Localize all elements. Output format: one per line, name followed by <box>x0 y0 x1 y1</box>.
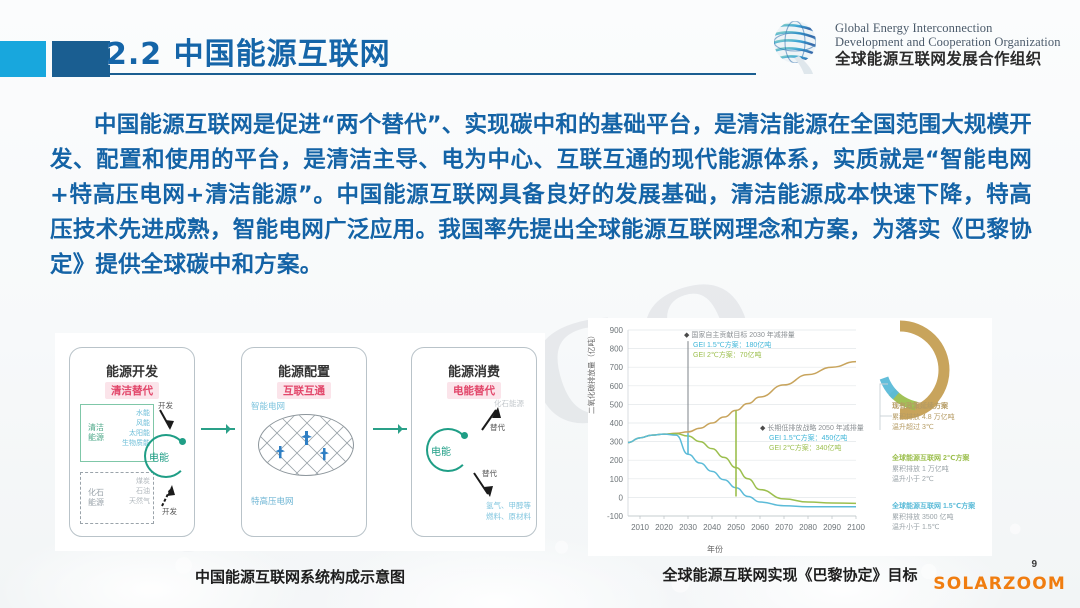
header-accent-square-light <box>0 41 46 77</box>
card-subtitle: 电能替代 <box>447 382 501 399</box>
scenario-cumulative: 累积排放 4.8 万亿吨 <box>892 413 955 424</box>
annotation-title: 国家自主贡献目标 2030 年减排量 <box>691 332 794 339</box>
fossil-energy-label: 化石能源 <box>85 488 107 508</box>
fossil-energy-box: 化石能源 煤炭石油天然气 <box>80 472 154 524</box>
svg-text:300: 300 <box>610 438 624 447</box>
card-title: 能源开发 <box>70 361 194 380</box>
consumption-target-top: 化石能源 <box>494 398 524 409</box>
right-chart-figure: 二氧化碳排放量（亿吨） -100010020030040050060070080… <box>588 318 992 556</box>
page-number: 9 <box>1031 559 1037 570</box>
solarzoom-watermark: SOLARZOOM <box>933 574 1066 594</box>
annotation-title: 长期低排放战略 2050 年减排量 <box>767 425 863 432</box>
svg-text:200: 200 <box>610 456 624 465</box>
svg-text:100: 100 <box>610 475 624 484</box>
diagram-card-energy-development: 能源开发 清洁替代 清洁能源 水能风能太阳能生物质能 化石能源 煤炭石油天然气 <box>69 347 195 537</box>
card-subtitle: 清洁替代 <box>105 382 159 399</box>
scenario-warming: 温升小于 2℃ <box>892 475 969 486</box>
globe-logo-icon <box>768 16 826 74</box>
svg-text:2010: 2010 <box>631 523 649 532</box>
scenario-warming: 温升超过 3℃ <box>892 423 955 434</box>
svg-text:600: 600 <box>610 382 624 391</box>
svg-text:2090: 2090 <box>823 523 841 532</box>
scenario-existing-policy: 现有政策延续方案 累积排放 4.8 万亿吨 温升超过 3℃ <box>892 402 955 434</box>
smart-grid-label: 智能电网 <box>251 400 285 412</box>
svg-text:900: 900 <box>610 326 624 335</box>
electricity-label: 电能 <box>149 449 169 464</box>
uhv-grid-label: 特高压电网 <box>251 495 294 507</box>
electricity-label: 电能 <box>431 443 451 458</box>
header-accent-square-dark <box>52 41 110 77</box>
slide-header: 2.2 中国能源互联网 <box>0 0 1080 92</box>
scenario-cumulative: 累积排放 1 万亿吨 <box>892 465 969 476</box>
develop-arrow-up-label: 开发 <box>158 400 173 411</box>
svg-text:500: 500 <box>610 400 624 409</box>
svg-text:2040: 2040 <box>703 523 721 532</box>
svg-text:700: 700 <box>610 363 624 372</box>
scenario-name: 现有政策延续方案 <box>892 402 955 413</box>
body-paragraph: 中国能源互联网是促进“两个替代”、实现碳中和的基础平台，是清洁能源在全国范围大规… <box>50 108 1032 283</box>
right-figure-caption: 全球能源互联网实现《巴黎协定》目标 <box>600 564 980 585</box>
scenario-gei-15c: 全球能源互联网 1.5℃方案 累积排放 3500 亿吨 温升小于 1.5℃ <box>892 502 975 534</box>
svg-text:2020: 2020 <box>655 523 673 532</box>
chart-x-axis-label: 年份 <box>588 544 842 555</box>
consumption-target-bottom-line2: 燃料、原材料 <box>486 511 531 522</box>
flow-arrow-2 <box>373 428 407 430</box>
fossil-energy-items: 煤炭石油天然气 <box>129 477 150 507</box>
annotation-line2: GEI 2℃方案：70亿吨 <box>693 352 762 359</box>
consume-arrow-up-label: 替代 <box>490 422 505 433</box>
consumption-target-bottom-line1: 氢气、甲醇等 <box>486 500 531 511</box>
card-title: 能源消费 <box>412 361 536 380</box>
svg-text:2070: 2070 <box>775 523 793 532</box>
left-diagram: 能源开发 清洁替代 清洁能源 水能风能太阳能生物质能 化石能源 煤炭石油天然气 <box>55 333 545 551</box>
grid-network-ellipse <box>258 414 354 476</box>
chart-y-axis-label: 二氧化碳排放量（亿吨） <box>586 332 597 415</box>
annotation-line1: GEI 1.5℃方案：180亿吨 <box>693 342 771 349</box>
scenario-name: 全球能源互联网 2℃方案 <box>892 454 969 465</box>
svg-text:2060: 2060 <box>751 523 769 532</box>
annotation-line2: GEI 2℃方案：340亿吨 <box>769 445 841 452</box>
card-subtitle: 互联互通 <box>277 382 331 399</box>
develop-arrow-down-label: 开发 <box>162 506 177 517</box>
scenario-name: 全球能源互联网 1.5℃方案 <box>892 502 975 513</box>
scenario-gei-2c: 全球能源互联网 2℃方案 累积排放 1 万亿吨 温升小于 2℃ <box>892 454 969 486</box>
clean-energy-box: 清洁能源 水能风能太阳能生物质能 <box>80 404 154 462</box>
svg-text:2030: 2030 <box>679 523 697 532</box>
logo-chinese-name: 全球能源互联网发展合作组织 <box>835 51 1061 68</box>
annotation-line1: GEI 1.5℃方案：450亿吨 <box>769 435 847 442</box>
electricity-node-dot <box>461 432 468 439</box>
scenario-cumulative: 累积排放 3500 亿吨 <box>892 513 975 524</box>
flow-arrow-1 <box>201 428 235 430</box>
clean-energy-label: 清洁能源 <box>85 423 107 443</box>
slide-canvas: 2.2 中国能源互联网 <box>0 0 1080 608</box>
organization-logo: Global Energy Interconnection Developmen… <box>768 12 1068 78</box>
diagram-card-energy-allocation: 能源配置 互联互通 智能电网 <box>241 347 367 537</box>
clean-energy-items: 水能风能太阳能生物质能 <box>122 409 150 450</box>
header-underline <box>88 73 756 75</box>
diagram-card-energy-consumption: 能源消费 电能替代 电能 替代 替代 化石能源 氢气、甲醇等 燃料、原材料 <box>411 347 537 537</box>
chart-scenario-panel: 现有政策延续方案 累积排放 4.8 万亿吨 温升超过 3℃ 全球能源互联网 2℃… <box>870 324 990 554</box>
svg-text:2050: 2050 <box>727 523 745 532</box>
card-title: 能源配置 <box>242 361 366 380</box>
electricity-node-dot <box>179 438 186 445</box>
consume-arrow-down-label: 替代 <box>482 468 497 479</box>
logo-english-line1: Global Energy Interconnection <box>835 22 1061 36</box>
svg-text:2100: 2100 <box>847 523 865 532</box>
left-figure-caption: 中国能源互联网系统构成示意图 <box>55 566 545 587</box>
svg-text:-100: -100 <box>607 512 624 521</box>
svg-text:400: 400 <box>610 419 624 428</box>
svg-text:2080: 2080 <box>799 523 817 532</box>
chart-annotation-2050: ◆ 长期低排放战略 2050 年减排量 GEI 1.5℃方案：450亿吨 GEI… <box>760 424 864 454</box>
svg-text:800: 800 <box>610 345 624 354</box>
chart-annotation-2030: ◆ 国家自主贡献目标 2030 年减排量 GEI 1.5℃方案：180亿吨 GE… <box>684 331 795 361</box>
page-title: 2.2 中国能源互联网 <box>106 29 391 73</box>
logo-english-line2: Development and Cooperation Organization <box>835 36 1061 50</box>
scenario-warming: 温升小于 1.5℃ <box>892 523 975 534</box>
svg-text:0: 0 <box>619 493 624 502</box>
